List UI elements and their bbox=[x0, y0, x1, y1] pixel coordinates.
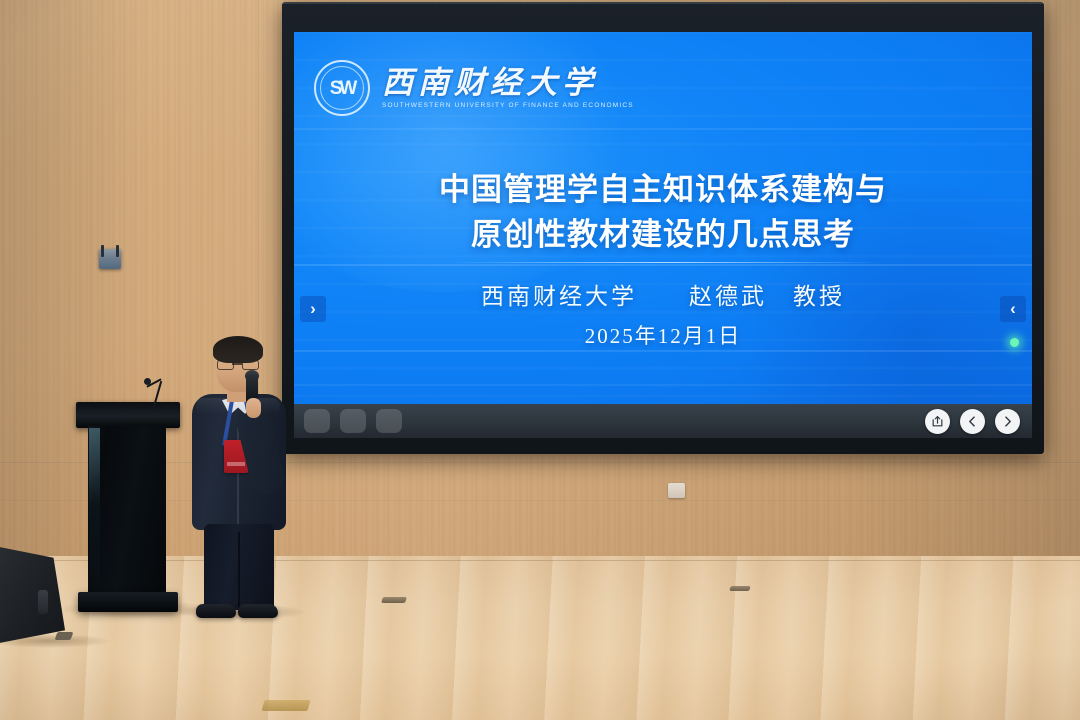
seal-monogram: SW bbox=[330, 79, 355, 98]
presentation-photo-scene: SW 西南财经大学 SOUTHWESTERN UNIVERSITY OF FIN… bbox=[0, 0, 1080, 720]
presenter-hair bbox=[213, 336, 263, 363]
player-actions bbox=[925, 404, 1020, 438]
screen-streak bbox=[294, 264, 1032, 266]
bezel-highlight bbox=[282, 2, 1044, 4]
presenter-trouser-seam bbox=[238, 532, 240, 608]
university-name-en: SOUTHWESTERN UNIVERSITY OF FINANCE AND E… bbox=[382, 102, 634, 109]
slide-title-line-1: 中国管理学自主知识体系建构与 bbox=[294, 168, 1032, 213]
university-seal-icon: SW bbox=[314, 60, 370, 116]
slide-thumbnail[interactable] bbox=[376, 409, 402, 433]
screen-streak bbox=[294, 350, 1032, 352]
university-name-cn: 西南财经大学 bbox=[382, 67, 634, 98]
slide-canvas: SW 西南财经大学 SOUTHWESTERN UNIVERSITY OF FIN… bbox=[294, 32, 1032, 404]
podium-gloss-highlight bbox=[89, 428, 100, 594]
screen-streak bbox=[294, 384, 1032, 386]
share-icon[interactable] bbox=[925, 409, 950, 434]
presenter bbox=[186, 336, 290, 618]
speaker-foot bbox=[55, 632, 74, 640]
previous-slide-chevron-icon[interactable] bbox=[960, 409, 985, 434]
university-name-block: 西南财经大学 SOUTHWESTERN UNIVERSITY OF FINANC… bbox=[382, 67, 634, 109]
led-display: SW 西南财经大学 SOUTHWESTERN UNIVERSITY OF FIN… bbox=[282, 2, 1044, 454]
edge-prev-chevron-icon[interactable]: ‹ bbox=[1000, 296, 1026, 322]
edge-next-chevron-icon[interactable]: › bbox=[300, 296, 326, 322]
slide-thumbnail[interactable] bbox=[340, 409, 366, 433]
presenter-shoe bbox=[196, 604, 236, 618]
floor-marker bbox=[261, 700, 310, 711]
podium-base bbox=[78, 592, 178, 612]
presenter-glasses-bridge bbox=[232, 363, 242, 365]
next-slide-chevron-icon[interactable] bbox=[995, 409, 1020, 434]
slide-presenter: 西南财经大学 赵德武 教授 bbox=[294, 277, 1032, 311]
presenter-glasses-lens bbox=[217, 360, 234, 370]
player-toolbar bbox=[294, 404, 1032, 438]
slide-date: 2025年12月1日 bbox=[294, 320, 1032, 350]
presenter-glasses-lens bbox=[242, 360, 259, 370]
university-logo: SW 西南财经大学 SOUTHWESTERN UNIVERSITY OF FIN… bbox=[314, 60, 634, 116]
slide-title: 中国管理学自主知识体系建构与 原创性教材建设的几点思考 bbox=[294, 168, 1032, 258]
podium bbox=[76, 402, 180, 614]
slide-title-line-2: 原创性教材建设的几点思考 bbox=[294, 213, 1032, 258]
presenter-hand bbox=[246, 398, 261, 418]
podium-top bbox=[76, 402, 180, 428]
floor-vent bbox=[729, 586, 751, 591]
floor-vent bbox=[381, 597, 407, 603]
wall-outlet-plate bbox=[668, 483, 685, 498]
live-status-dot bbox=[1010, 338, 1019, 347]
title-divider-rule bbox=[449, 262, 881, 263]
slide-thumbnail[interactable] bbox=[304, 409, 330, 433]
presenter-shoe bbox=[238, 604, 278, 618]
gooseneck-microphone-head bbox=[144, 378, 151, 385]
screen-streak bbox=[294, 128, 1032, 130]
wall-seam-vertical bbox=[1056, 0, 1058, 560]
speaker-handle bbox=[38, 590, 48, 614]
wall-mounted-fixture bbox=[99, 249, 121, 269]
